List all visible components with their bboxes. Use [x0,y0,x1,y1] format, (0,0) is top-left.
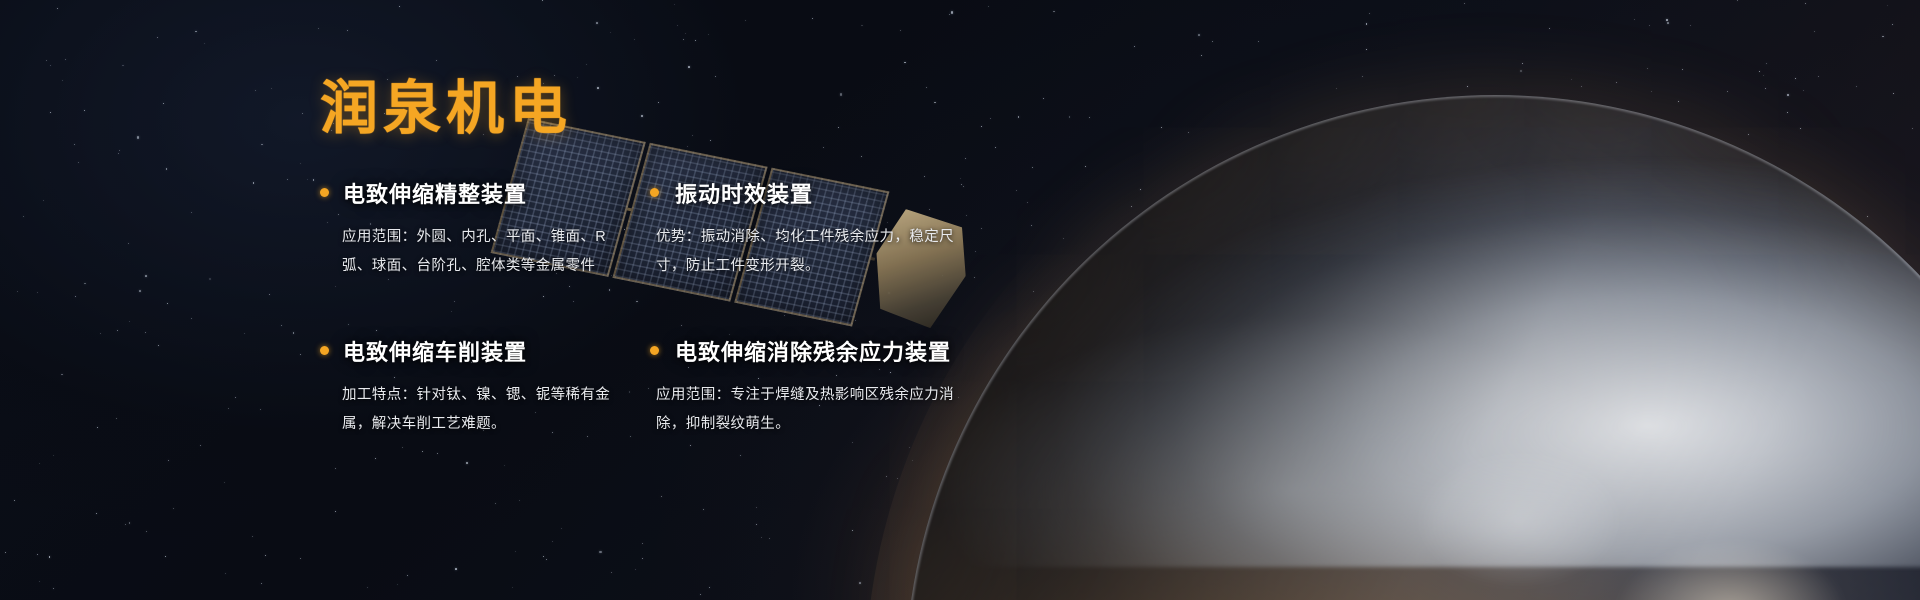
earth-polar-ice [905,95,1920,567]
feature-heading: 电致伸缩车削装置 [320,335,650,367]
earth-glow [865,55,1920,600]
bullet-dot-icon [650,188,659,197]
feature-item-4[interactable]: 电致伸缩消除残余应力装置 应用范围：专注于焊缝及热影响区残余应力消除，抑制裂纹萌… [650,335,980,439]
earth-sphere [905,95,1920,600]
hero-content: 润泉机电 电致伸缩精整装置 应用范围：外圆、内孔、平面、锥面、R弧、球面、台阶孔… [0,0,1000,600]
earth-landmass [905,95,1920,600]
feature-item-3[interactable]: 电致伸缩车削装置 加工特点：针对钛、镍、锶、铌等稀有金属，解决车削工艺难题。 [320,335,650,439]
feature-grid: 电致伸缩精整装置 应用范围：外圆、内孔、平面、锥面、R弧、球面、台阶孔、腔体类等… [320,177,1000,439]
feature-heading: 电致伸缩消除残余应力装置 [650,335,980,367]
feature-item-2[interactable]: 振动时效装置 优势：振动消除、均化工件残余应力，稳定尺寸，防止工件变形开裂。 [650,177,980,281]
hero-banner: 润泉机电 电致伸缩精整装置 应用范围：外圆、内孔、平面、锥面、R弧、球面、台阶孔… [0,0,1920,600]
feature-heading: 振动时效装置 [650,177,980,209]
earth-terminator [905,95,1920,600]
bullet-dot-icon [320,346,329,355]
feature-heading: 电致伸缩精整装置 [320,177,650,209]
bullet-dot-icon [650,346,659,355]
feature-description: 加工特点：针对钛、镍、锶、铌等稀有金属，解决车削工艺难题。 [320,381,625,439]
feature-item-1[interactable]: 电致伸缩精整装置 应用范围：外圆、内孔、平面、锥面、R弧、球面、台阶孔、腔体类等… [320,177,650,281]
earth-globe [905,95,1920,600]
feature-description: 应用范围：专注于焊缝及热影响区残余应力消除，抑制裂纹萌生。 [650,381,955,439]
feature-description: 应用范围：外圆、内孔、平面、锥面、R弧、球面、台阶孔、腔体类等金属零件 [320,223,625,281]
feature-title: 振动时效装置 [675,177,813,209]
feature-description: 优势：振动消除、均化工件残余应力，稳定尺寸，防止工件变形开裂。 [650,223,955,281]
feature-title: 电致伸缩车削装置 [343,335,527,367]
earth-sea [905,95,1920,600]
feature-title: 电致伸缩精整装置 [343,177,527,209]
earth-atmosphere-limb [905,95,1920,600]
brand-title: 润泉机电 [320,78,1000,139]
feature-title: 电致伸缩消除残余应力装置 [675,335,951,367]
bullet-dot-icon [320,188,329,197]
